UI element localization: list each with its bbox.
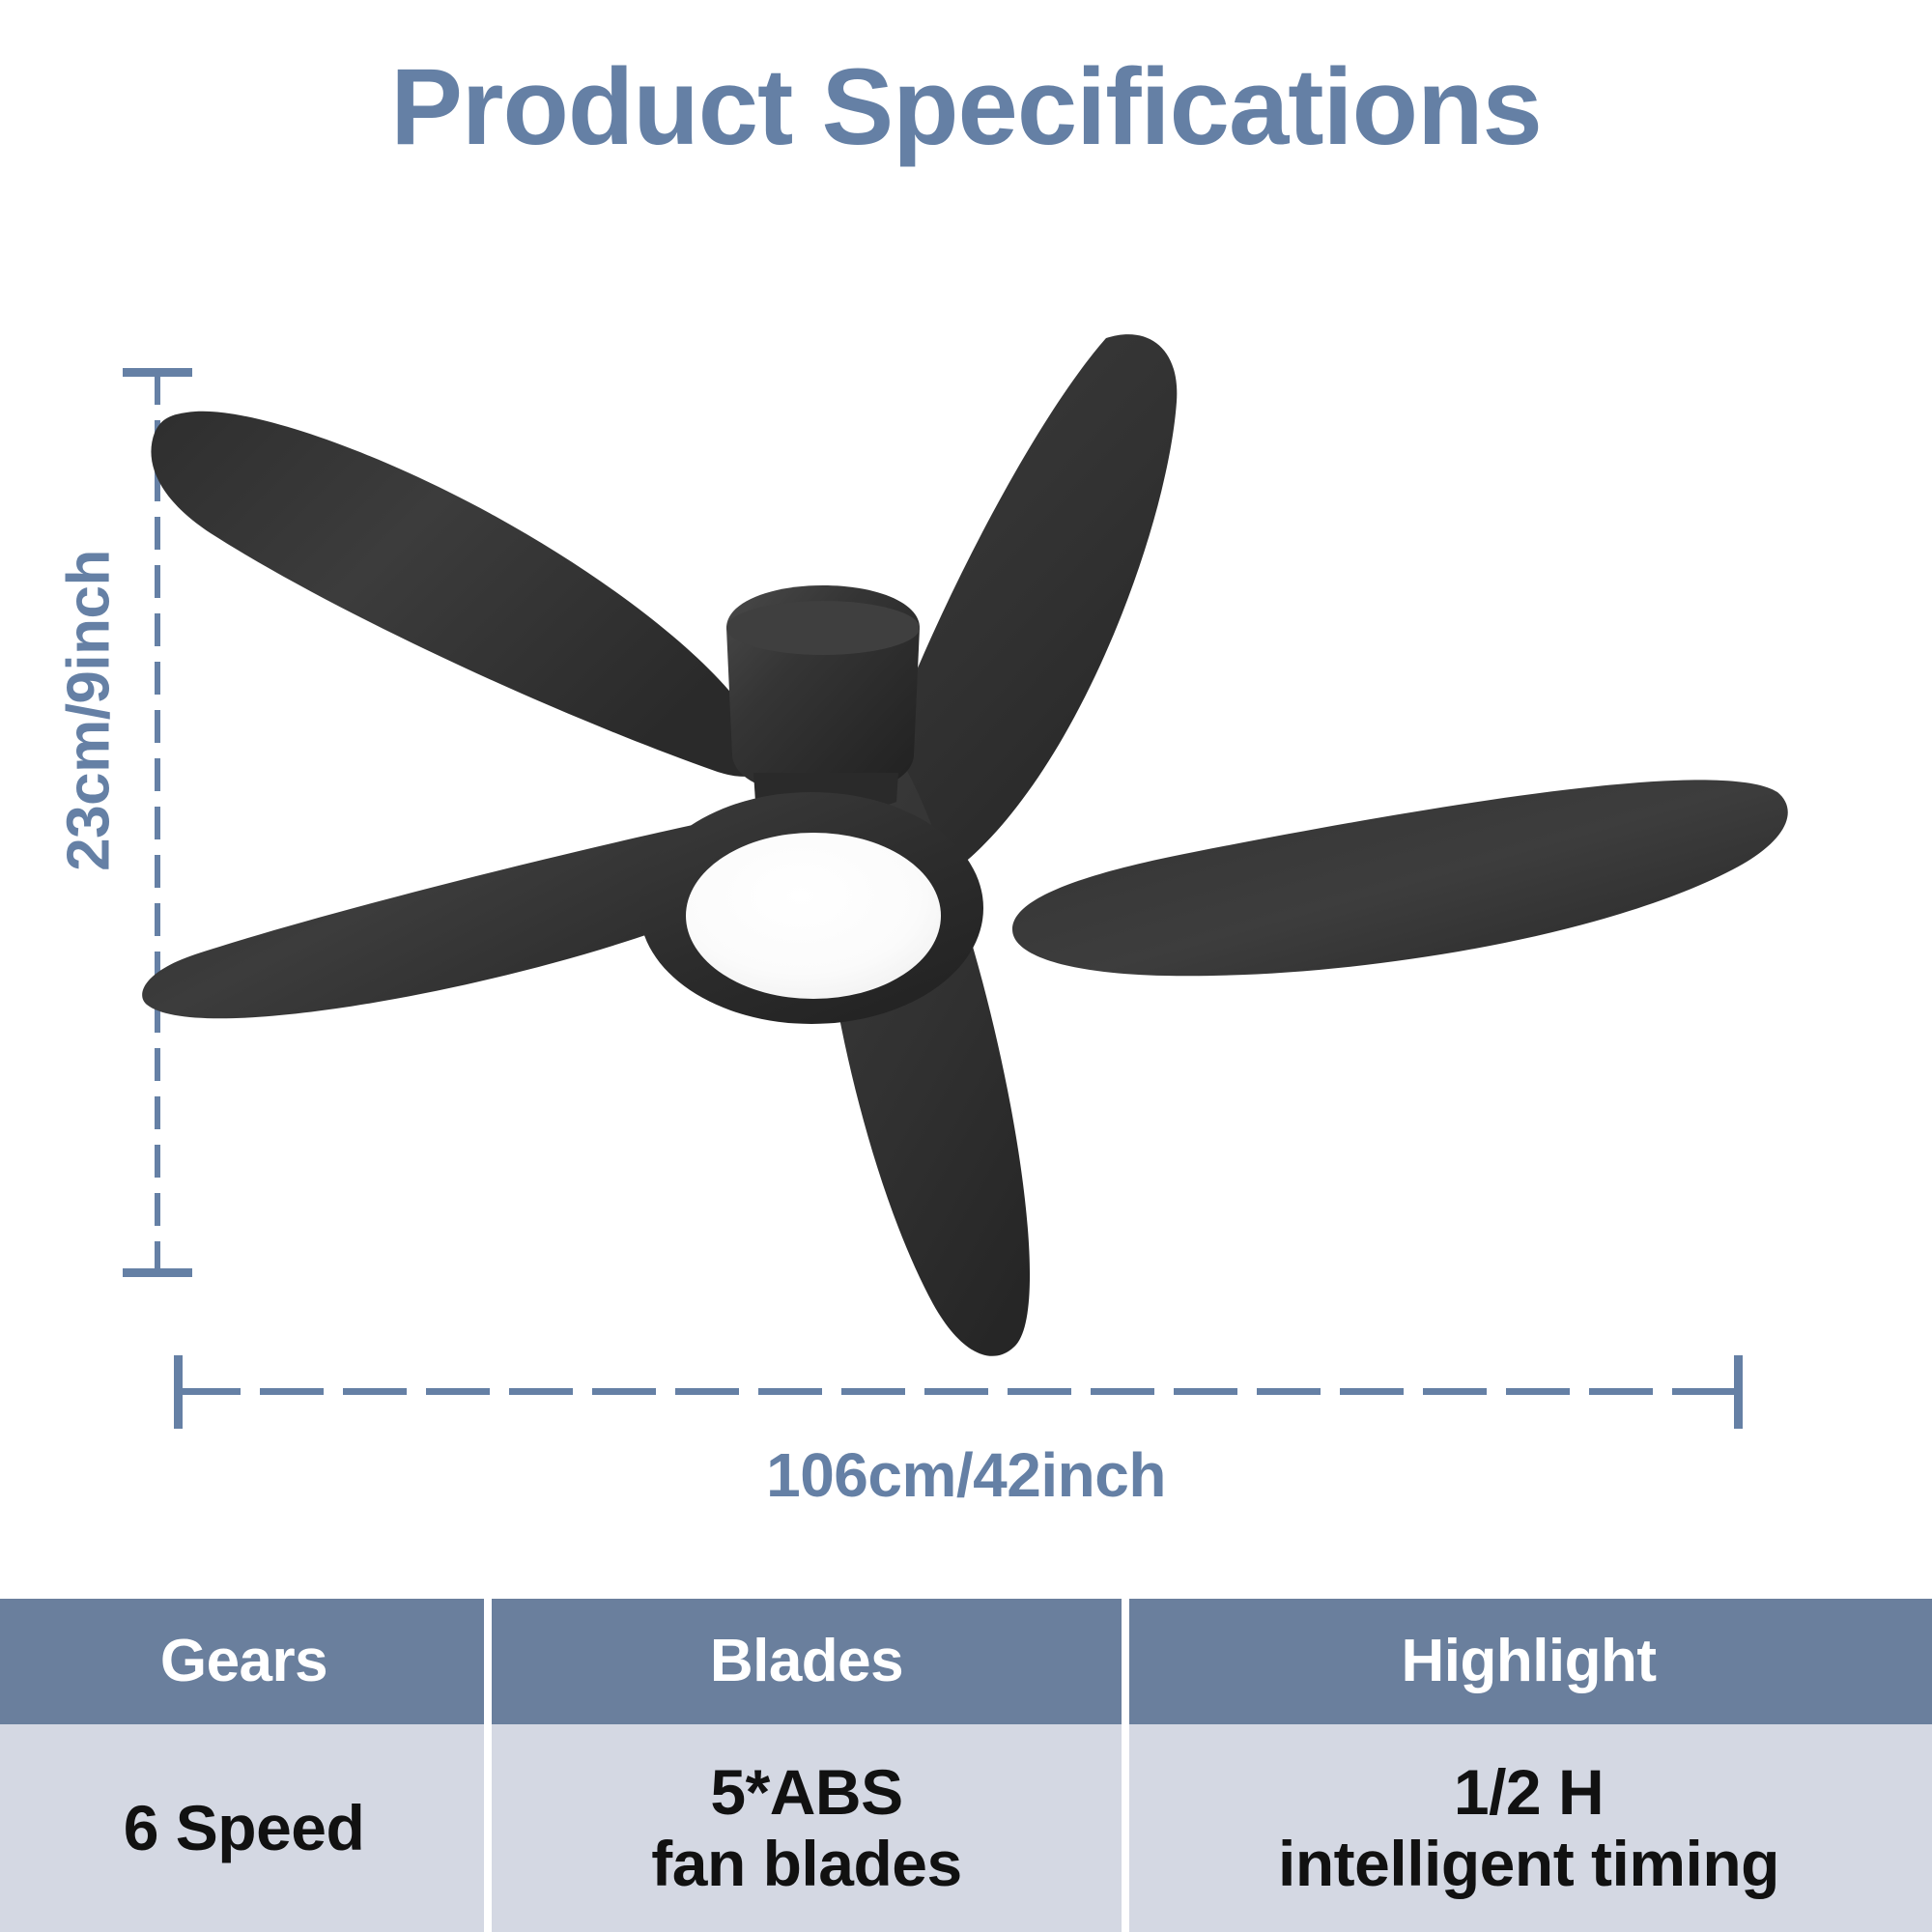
spec-header-cell-blades: Blades (488, 1599, 1125, 1724)
height-dimension-label: 23cm/9inch (55, 508, 124, 914)
width-dimension-cap-right (1734, 1355, 1743, 1429)
product-diagram: 23cm/9inch (0, 0, 1932, 1599)
spec-header-label: Gears (160, 1628, 327, 1694)
width-dimension-line (177, 1388, 1740, 1395)
spec-value-label: 5*ABS fan blades (651, 1757, 961, 1900)
spec-value-cell-blades: 5*ABS fan blades (488, 1724, 1125, 1932)
spec-header-cell-gears: Gears (0, 1599, 488, 1724)
spec-table-divider (1122, 1599, 1129, 1932)
ceiling-fan-image (135, 319, 1797, 1372)
fan-light-ring (639, 792, 983, 1024)
spec-value-label: 6 Speed (124, 1793, 365, 1864)
spec-value-cell-gears: 6 Speed (0, 1724, 488, 1932)
fan-motor-housing (726, 585, 920, 810)
spec-header-label: Highlight (1401, 1628, 1656, 1694)
spec-table-divider (484, 1599, 492, 1932)
spec-table-body-row: 6 Speed 5*ABS fan blades 1/2 H intellige… (0, 1724, 1932, 1932)
spec-table: Gears Blades Highlight 6 Speed 5*ABS fan… (0, 1599, 1932, 1932)
spec-value-label: 1/2 H intelligent timing (1278, 1757, 1779, 1900)
spec-header-label: Blades (710, 1628, 903, 1694)
spec-value-cell-highlight: 1/2 H intelligent timing (1125, 1724, 1932, 1932)
spec-header-cell-highlight: Highlight (1125, 1599, 1932, 1724)
fan-blade-3 (1012, 780, 1788, 976)
fan-blade-1 (151, 412, 766, 777)
spec-table-header-row: Gears Blades Highlight (0, 1599, 1932, 1724)
width-dimension-label: 106cm/42inch (0, 1439, 1932, 1511)
